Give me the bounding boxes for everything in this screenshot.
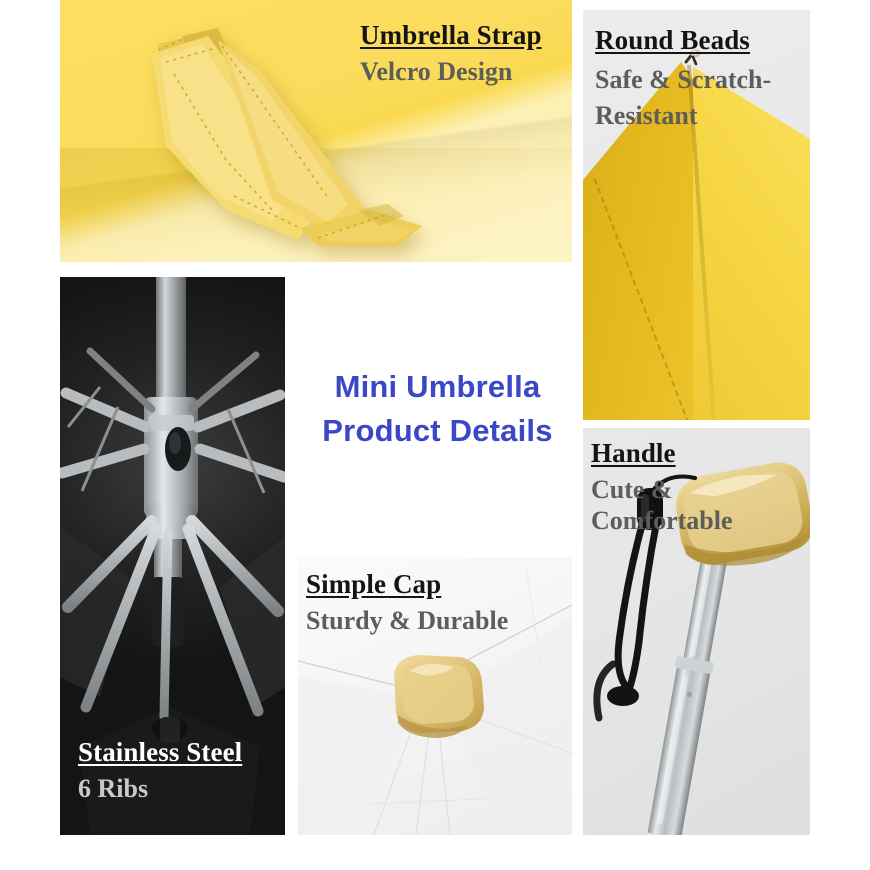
caption-subtitle-umbrella-strap: Velcro Design: [360, 57, 542, 88]
caption-title-umbrella-strap: Umbrella Strap: [360, 20, 542, 52]
panel-stainless-steel-ribs: Stainless Steel 6 Ribs: [60, 277, 285, 835]
panel-simple-cap: Simple Cap Sturdy & Durable: [298, 557, 572, 835]
caption-subtitle-round-beads: Safe & Scratch-Resistant: [595, 62, 805, 134]
product-details-infographic: Umbrella Strap Velcro Design Round Beads…: [0, 0, 870, 870]
caption-subtitle-stainless-steel: 6 Ribs: [78, 774, 242, 805]
caption-round-beads: Round Beads Safe & Scratch-Resistant: [595, 25, 805, 134]
page-title: Mini Umbrella Product Details: [300, 365, 575, 453]
caption-title-handle: Handle: [591, 438, 810, 470]
caption-handle: Handle Cute & Comfortable: [591, 438, 810, 536]
caption-title-round-beads: Round Beads: [595, 25, 805, 57]
page-title-line-1: Mini Umbrella: [300, 365, 575, 409]
caption-title-stainless-steel: Stainless Steel: [78, 737, 242, 769]
caption-title-simple-cap: Simple Cap: [306, 569, 508, 601]
caption-subtitle-simple-cap: Sturdy & Durable: [306, 606, 508, 637]
panel-handle: Handle Cute & Comfortable: [583, 428, 810, 835]
page-title-line-2: Product Details: [300, 409, 575, 453]
caption-simple-cap: Simple Cap Sturdy & Durable: [306, 569, 508, 637]
caption-stainless-steel: Stainless Steel 6 Ribs: [78, 737, 242, 805]
panel-umbrella-strap: Umbrella Strap Velcro Design: [60, 0, 572, 262]
caption-subtitle-handle: Cute & Comfortable: [591, 475, 810, 536]
caption-umbrella-strap: Umbrella Strap Velcro Design: [360, 20, 542, 88]
panel-round-beads: Round Beads Safe & Scratch-Resistant: [583, 10, 810, 420]
